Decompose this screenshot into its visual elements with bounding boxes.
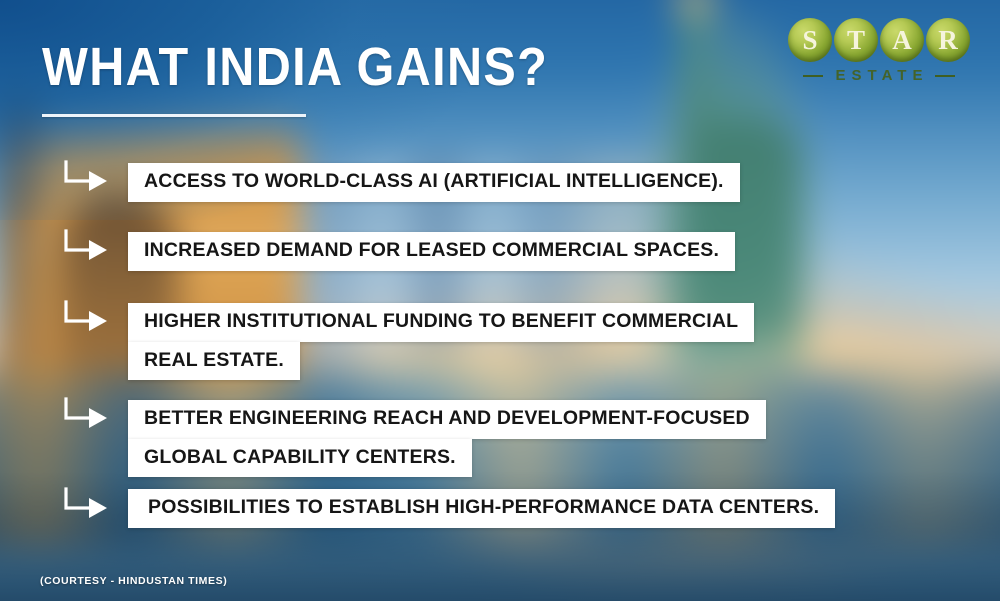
list-item-line: POSSIBILITIES TO ESTABLISH HIGH-PERFORMA… [128,489,835,528]
list-item-text-block: BETTER ENGINEERING REACH AND DEVELOPMENT… [128,400,766,477]
list-item-text-block: POSSIBILITIES TO ESTABLISH HIGH-PERFORMA… [128,489,835,528]
bullet-list: ACCESS TO WORLD-CLASS AI (ARTIFICIAL INT… [0,0,1000,601]
elbow-arrow-right-icon [63,160,109,196]
list-item-text-block: ACCESS TO WORLD-CLASS AI (ARTIFICIAL INT… [128,163,740,202]
list-item-line: INCREASED DEMAND FOR LEASED COMMERCIAL S… [128,232,735,271]
elbow-arrow-right-icon [63,397,109,433]
elbow-arrow-right-icon [63,229,109,265]
source-credit: (COURTESY - HINDUSTAN TIMES) [40,575,227,587]
list-item-line: GLOBAL CAPABILITY CENTERS. [128,439,472,478]
list-item-text-block: HIGHER INSTITUTIONAL FUNDING TO BENEFIT … [128,303,754,380]
list-item-text-block: INCREASED DEMAND FOR LEASED COMMERCIAL S… [128,232,735,271]
list-item-line: HIGHER INSTITUTIONAL FUNDING TO BENEFIT … [128,303,754,342]
list-item-line: ACCESS TO WORLD-CLASS AI (ARTIFICIAL INT… [128,163,740,202]
list-item-line: REAL ESTATE. [128,342,300,381]
list-item-line: BETTER ENGINEERING REACH AND DEVELOPMENT… [128,400,766,439]
elbow-arrow-right-icon [63,487,109,523]
elbow-arrow-right-icon [63,300,109,336]
infographic-canvas: S T A R ESTATE WHAT INDIA GAINS? ACCESS … [0,0,1000,601]
